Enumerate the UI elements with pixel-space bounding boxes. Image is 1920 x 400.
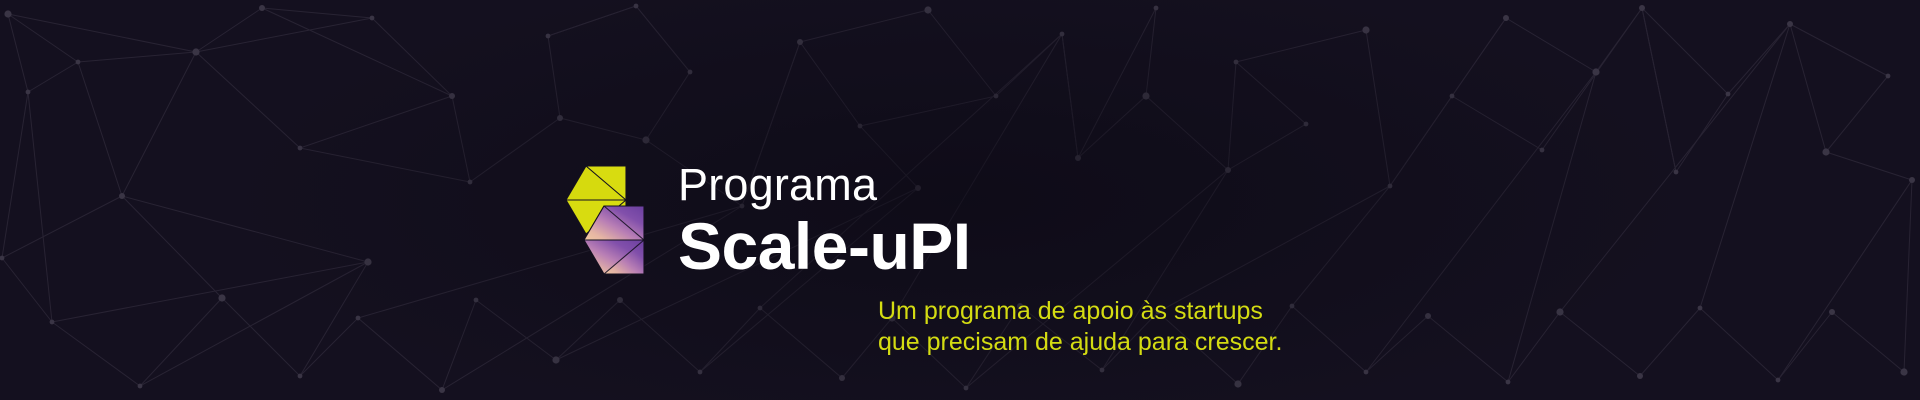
scale-upi-banner: Programa Scale-uPI Um programa de apoio … [0, 0, 1920, 400]
brand-name: Scale-uPI [678, 213, 971, 279]
tagline-line-2: que precisam de ajuda para crescer. [878, 327, 1282, 358]
wordmark: Programa Scale-uPI [678, 160, 971, 279]
scale-upi-logo-icon [546, 160, 664, 280]
tagline: Um programa de apoio às startups que pre… [878, 296, 1282, 358]
program-label: Programa [678, 160, 971, 210]
banner-content: Programa Scale-uPI Um programa de apoio … [0, 0, 1920, 400]
tagline-line-1: Um programa de apoio às startups [878, 296, 1282, 327]
